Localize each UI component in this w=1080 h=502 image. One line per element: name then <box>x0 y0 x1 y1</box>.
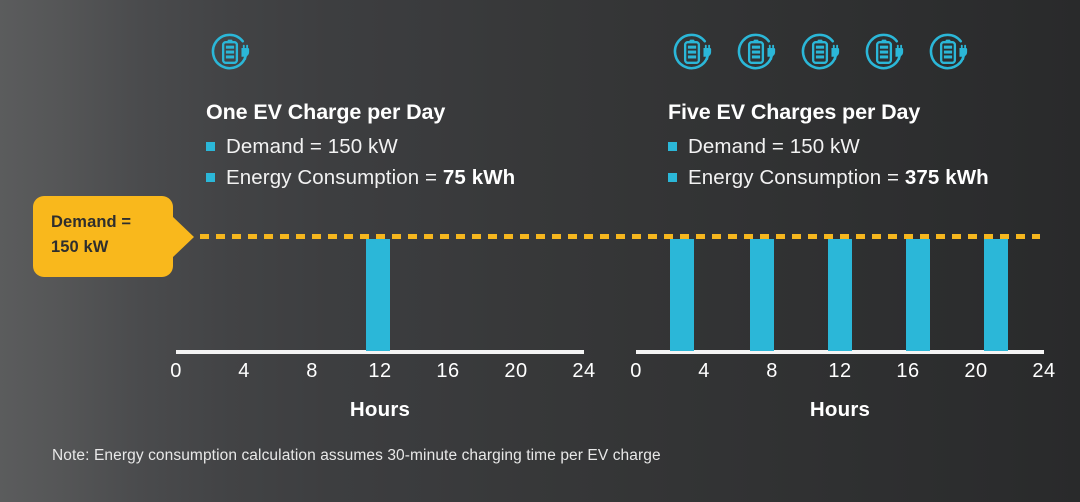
x-tick-label: 12 <box>368 360 391 383</box>
bullet-square-icon <box>206 173 215 182</box>
x-tick-label: 16 <box>896 360 919 383</box>
x-tick-label: 4 <box>698 360 710 383</box>
chart-five-ev-charges <box>636 239 1044 354</box>
ev-demand-infographic: One EV Charge per Day Demand = 150 kW En… <box>0 0 1080 502</box>
bullet-square-icon <box>668 142 677 151</box>
ev-charge-icon-row-left <box>206 28 255 77</box>
x-tick-label: 4 <box>238 360 250 383</box>
ev-charge-icon <box>860 28 909 77</box>
bullet-square-icon <box>668 173 677 182</box>
bullet-energy-label-right: Energy Consumption = 375 kWh <box>688 166 989 190</box>
x-tick-label: 8 <box>306 360 318 383</box>
bar-five-ev-charges-chart-1 <box>750 239 774 351</box>
bullet-energy-plain-right: Energy Consumption = <box>688 166 905 189</box>
x-axis-ticks-right: 04812162024 <box>636 360 1044 390</box>
bullet-energy-value-left: 75 kWh <box>443 166 515 189</box>
bar-five-ev-charges-chart-2 <box>828 239 852 351</box>
x-tick-label: 20 <box>964 360 987 383</box>
panel-title-one-ev-charge: One EV Charge per Day <box>206 100 445 125</box>
ev-charge-icon <box>206 28 255 77</box>
bullet-square-icon <box>206 142 215 151</box>
x-axis-ticks-left: 04812162024 <box>176 360 584 390</box>
bullet-energy-value-right: 375 kWh <box>905 166 989 189</box>
x-tick-label: 24 <box>1032 360 1055 383</box>
ev-charge-icon-row-right <box>668 28 973 77</box>
bullet-demand-left: Demand = 150 kW <box>206 131 515 162</box>
bullet-demand-right: Demand = 150 kW <box>668 131 989 162</box>
bar-five-ev-charges-chart-4 <box>984 239 1008 351</box>
bullet-energy-plain-left: Energy Consumption = <box>226 166 443 189</box>
bar-five-ev-charges-chart-3 <box>906 239 930 351</box>
x-tick-label: 16 <box>436 360 459 383</box>
footnote-note: Note: Energy consumption calculation ass… <box>52 447 661 465</box>
bar-five-ev-charges-chart-0 <box>670 239 694 351</box>
ev-charge-icon <box>796 28 845 77</box>
x-tick-label: 20 <box>504 360 527 383</box>
ev-charge-icon <box>732 28 781 77</box>
bullet-list-five-ev-charges: Demand = 150 kW Energy Consumption = 375… <box>668 131 989 193</box>
bar-one-ev-charge-chart-0 <box>366 239 390 351</box>
x-tick-label: 24 <box>572 360 595 383</box>
demand-callout-line-1: Demand = <box>51 210 173 235</box>
x-tick-label: 0 <box>170 360 182 383</box>
x-tick-label: 8 <box>766 360 778 383</box>
bullet-demand-label-left: Demand = 150 kW <box>226 135 398 159</box>
ev-charge-icon <box>668 28 717 77</box>
bullet-demand-label-right: Demand = 150 kW <box>688 135 860 159</box>
bullet-energy-right: Energy Consumption = 375 kWh <box>668 162 989 193</box>
x-axis-title-left: Hours <box>176 398 584 422</box>
x-tick-label: 12 <box>828 360 851 383</box>
chart-one-ev-charge <box>176 239 584 354</box>
x-tick-label: 0 <box>630 360 642 383</box>
demand-callout-line-2: 150 kW <box>51 235 173 260</box>
bullet-list-one-ev-charge: Demand = 150 kW Energy Consumption = 75 … <box>206 131 515 193</box>
bullet-energy-label-left: Energy Consumption = 75 kWh <box>226 166 515 190</box>
demand-callout: Demand = 150 kW <box>33 196 173 277</box>
ev-charge-icon <box>924 28 973 77</box>
bullet-energy-left: Energy Consumption = 75 kWh <box>206 162 515 193</box>
panel-title-five-ev-charges: Five EV Charges per Day <box>668 100 920 125</box>
x-axis-title-right: Hours <box>636 398 1044 422</box>
